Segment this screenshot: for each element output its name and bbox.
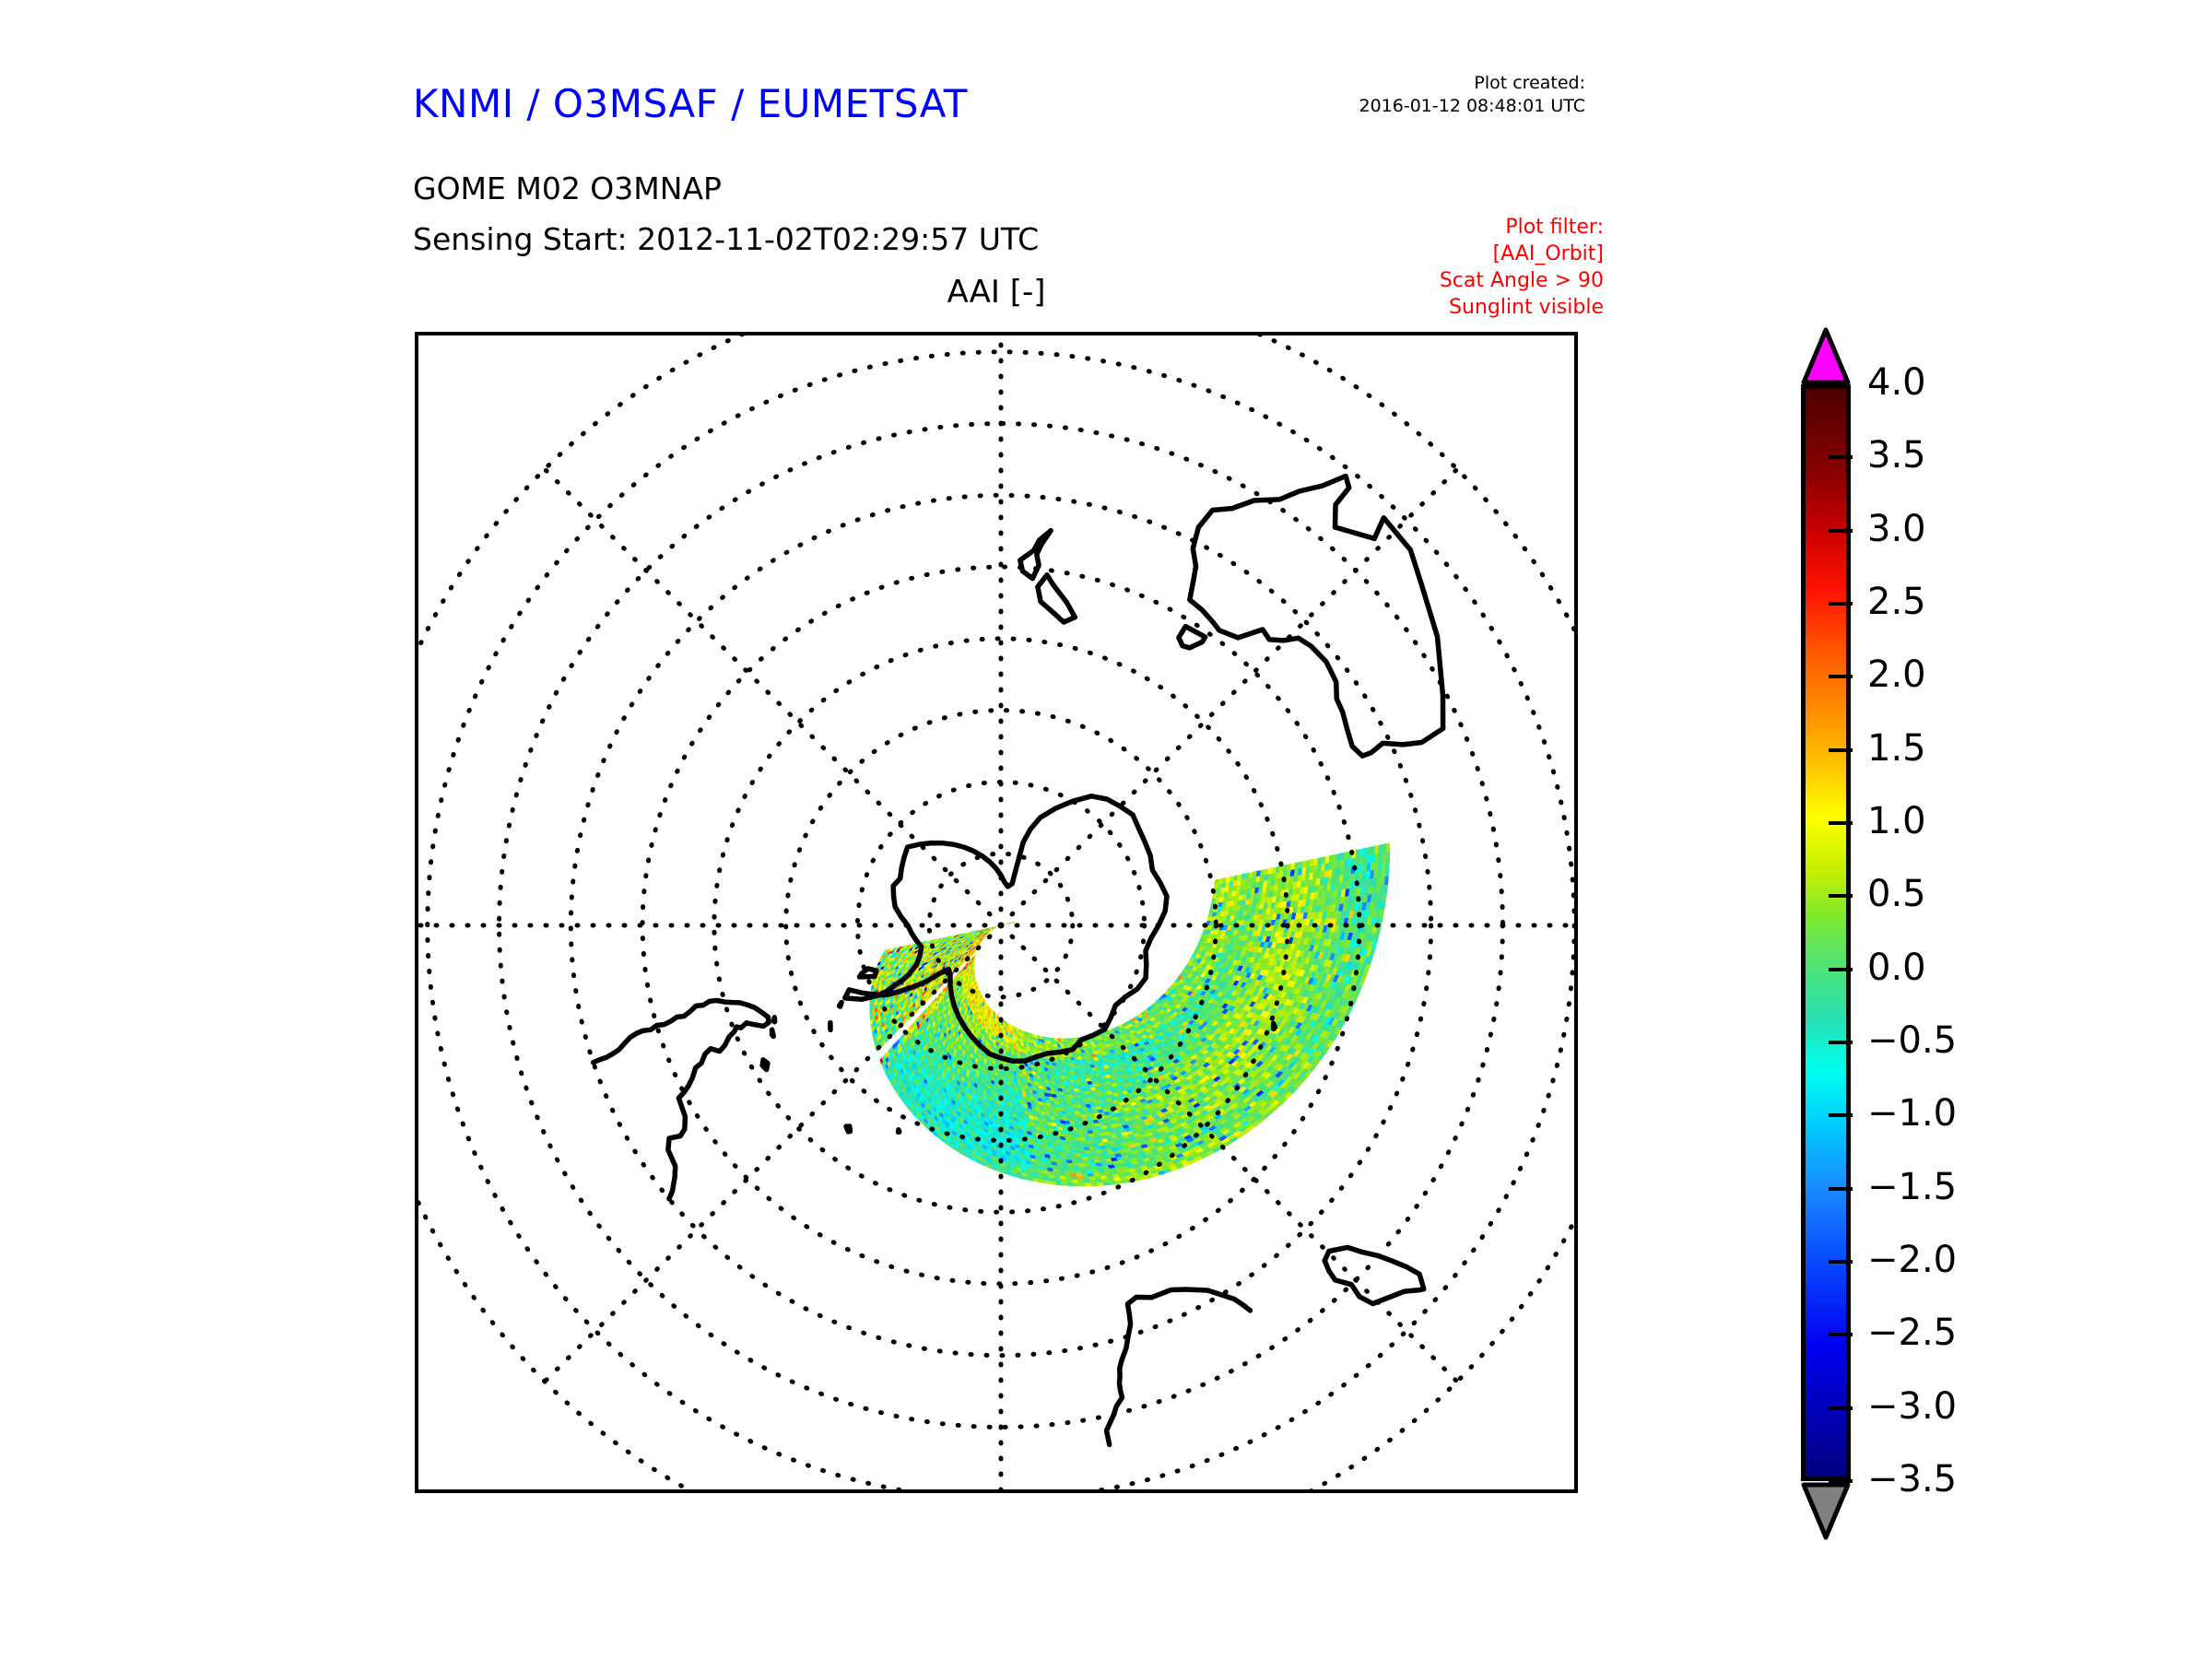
- plot-created-label: Plot created:: [1281, 72, 1585, 95]
- colorbar-tick-label: −3.5: [1867, 1461, 1957, 1498]
- colorbar-tick: [1829, 1113, 1853, 1117]
- page-title: KNMI / O3MSAF / EUMETSAT: [413, 81, 968, 126]
- polar-stereographic-map: [418, 335, 1574, 1489]
- plot-filter-name: [AAI_Orbit]: [1300, 241, 1604, 267]
- colorbar-gradient: [1801, 384, 1851, 1481]
- colorbar-tick: [1829, 1187, 1853, 1191]
- colorbar-tick: [1829, 1406, 1853, 1410]
- plot-filter-title: Plot filter:: [1300, 214, 1604, 241]
- sensing-start-label: Sensing Start: 2012-11-02T02:29:57 UTC: [413, 221, 1039, 257]
- colorbar-tick: [1829, 1333, 1853, 1336]
- colorbar-tick-label: −2.0: [1867, 1241, 1957, 1278]
- colorbar-tick: [1829, 748, 1853, 752]
- colorbar-tick: [1829, 894, 1853, 898]
- colorbar-tick-label: 0.5: [1867, 876, 1926, 912]
- colorbar-tick-label: 3.0: [1867, 511, 1926, 547]
- plot-created-value: 2016-01-12 08:48:01 UTC: [1281, 95, 1585, 118]
- colorbar-tick-label: 3.5: [1867, 437, 1926, 474]
- colorbar-tick-label: 1.0: [1867, 803, 1926, 840]
- colorbar-tick-label: −1.0: [1867, 1095, 1957, 1132]
- colorbar-tick-label: 4.0: [1867, 364, 1926, 401]
- colorbar-tick-label: 2.0: [1867, 656, 1926, 693]
- plot-created-block: Plot created: 2016-01-12 08:48:01 UTC: [1281, 72, 1585, 118]
- axes-title: AAI [-]: [415, 274, 1578, 311]
- colorbar-tick: [1829, 602, 1853, 606]
- colorbar-tick-label: −2.5: [1867, 1314, 1957, 1351]
- colorbar-under-range-arrow: [1801, 1479, 1851, 1540]
- colorbar: 4.03.53.02.52.01.51.00.50.0−0.5−1.0−1.5−…: [1795, 327, 2183, 1498]
- colorbar-tick: [1829, 1260, 1853, 1264]
- colorbar-over-range-arrow: [1801, 327, 1851, 385]
- colorbar-tick-label: 1.5: [1867, 730, 1926, 767]
- colorbar-tick-label: −1.5: [1867, 1169, 1957, 1206]
- colorbar-tick: [1829, 675, 1853, 678]
- colorbar-tick-label: −0.5: [1867, 1022, 1957, 1059]
- map-plot-area: [415, 332, 1578, 1493]
- colorbar-tick: [1829, 1479, 1853, 1483]
- colorbar-tick: [1829, 968, 1853, 971]
- colorbar-tick-label: 2.5: [1867, 583, 1926, 620]
- map-clip: [418, 335, 1574, 1489]
- instrument-label: GOME M02 O3MNAP: [413, 171, 722, 206]
- colorbar-tick: [1829, 529, 1853, 533]
- colorbar-tick: [1829, 455, 1853, 459]
- colorbar-tick-label: −3.0: [1867, 1388, 1957, 1425]
- colorbar-tick-label: 0.0: [1867, 949, 1926, 986]
- graticule: [418, 335, 1574, 1489]
- colorbar-tick: [1829, 821, 1853, 825]
- colorbar-tick: [1829, 1041, 1853, 1044]
